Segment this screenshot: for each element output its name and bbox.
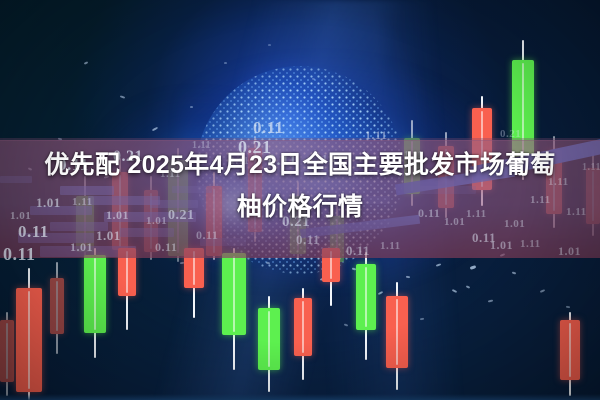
page-title-line2: 柚价格行情 xyxy=(0,186,600,228)
floating-price-number: 0.11 xyxy=(155,240,177,255)
candlestick-body xyxy=(222,253,246,335)
floating-price-number: 0.11 xyxy=(296,232,320,248)
candlestick-body xyxy=(16,288,42,392)
floating-price-number: 1.11 xyxy=(520,238,541,250)
floating-price-number: 1.01 xyxy=(70,240,93,255)
floating-price-number: 0.21 xyxy=(500,128,521,140)
floating-price-number: 0.11 xyxy=(196,228,218,243)
page-title-line1: 优先配 2025年4月23日全国主要批发市场葡萄 xyxy=(0,144,600,186)
candlestick-body xyxy=(560,320,580,380)
floating-price-number: 1.01 xyxy=(96,228,121,244)
candlestick-body xyxy=(294,298,312,356)
floating-price-number: 0.11 xyxy=(346,243,370,259)
floating-price-number: 0.11 xyxy=(253,118,284,138)
candlestick-body xyxy=(386,296,408,368)
candlestick-body xyxy=(0,320,14,382)
candlestick-body xyxy=(84,255,106,333)
candlestick-body xyxy=(258,308,280,370)
floating-price-number: 1.11 xyxy=(365,128,387,143)
floating-price-number: 1.11 xyxy=(380,240,401,252)
banner-image: 0.111.111.011.010.110.111.111.011.011.01… xyxy=(0,0,600,400)
page-title: 优先配 2025年4月23日全国主要批发市场葡萄 柚价格行情 xyxy=(0,144,600,228)
candlestick-body xyxy=(50,278,64,334)
floating-price-number: 1.01 xyxy=(490,238,513,253)
floating-price-number: 0.11 xyxy=(3,244,36,265)
bottom-edge-rule xyxy=(0,394,600,400)
particle-speck xyxy=(312,78,315,81)
candlestick-body xyxy=(356,264,376,330)
floating-price-number: 1.01 xyxy=(558,244,581,259)
